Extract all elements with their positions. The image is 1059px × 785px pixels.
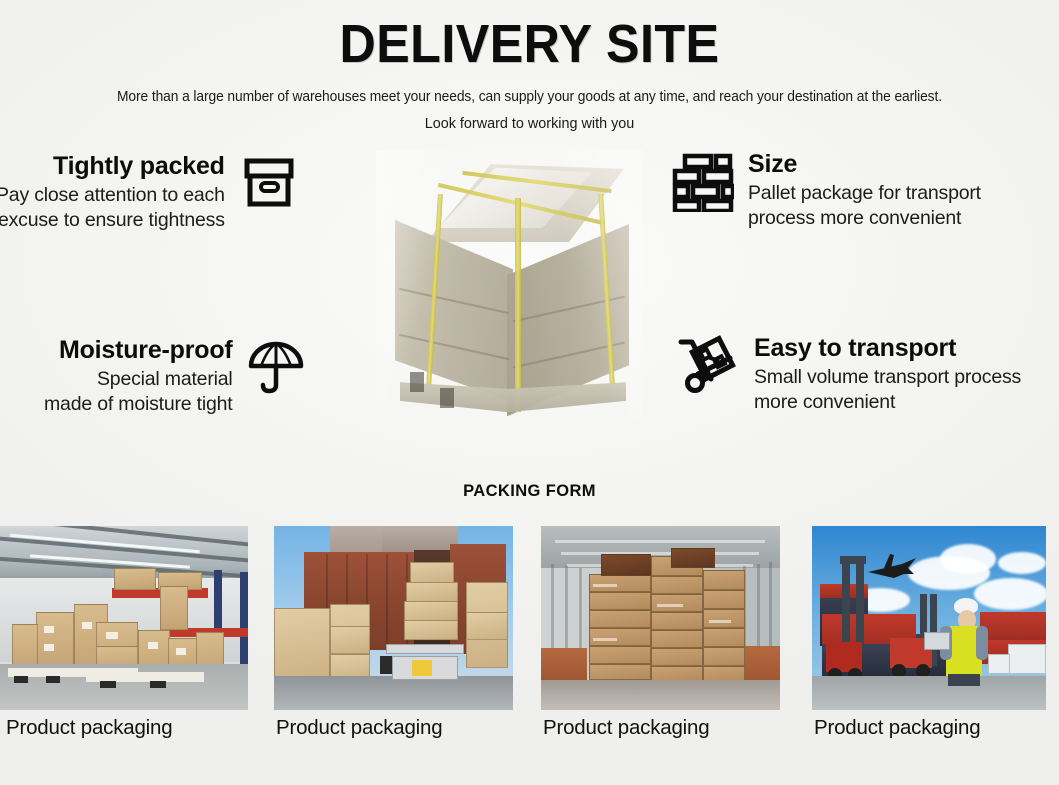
hand-truck-icon bbox=[678, 334, 740, 396]
gallery-section bbox=[0, 526, 1059, 716]
carton bbox=[703, 628, 745, 647]
wall-rib bbox=[769, 562, 772, 652]
reach-stacker-mast bbox=[842, 558, 850, 646]
header-subtitle-line1: More than a large number of warehouses m… bbox=[21, 89, 1038, 105]
wall-rib bbox=[579, 568, 582, 650]
box-label bbox=[593, 584, 617, 587]
carton bbox=[651, 630, 703, 648]
wall-rib bbox=[551, 564, 554, 650]
gallery-caption-3: Product packaging bbox=[543, 716, 709, 740]
feature-text: Easy to transport Small volume transport… bbox=[754, 334, 1021, 414]
header-subtitle-line2: Look forward to working with you bbox=[0, 116, 1059, 132]
wall-rib bbox=[565, 566, 568, 650]
container-floor bbox=[541, 680, 780, 710]
yard-ground bbox=[812, 676, 1046, 710]
gallery-caption-1: Product packaging bbox=[6, 716, 172, 740]
page-header: DELIVERY SITE More than a large number o… bbox=[0, 0, 1059, 132]
feature-desc-line1: Special material bbox=[44, 367, 233, 392]
box-label bbox=[148, 642, 158, 649]
feature-text: Tightly packed Pay close attention to ea… bbox=[0, 152, 225, 232]
wall-rust-band bbox=[541, 648, 587, 684]
carton bbox=[404, 601, 458, 621]
pallet-illustration bbox=[376, 150, 642, 422]
logistics-hub-photo bbox=[812, 526, 1046, 710]
carton bbox=[589, 610, 651, 628]
carton bbox=[703, 647, 745, 666]
carton bbox=[703, 609, 745, 628]
pallet-foot bbox=[46, 676, 60, 683]
feature-text: Size Pallet package for transport proces… bbox=[748, 150, 981, 230]
carton bbox=[589, 628, 651, 646]
container-loading-photo bbox=[274, 526, 513, 710]
gallery-caption-4: Product packaging bbox=[814, 716, 980, 740]
umbrella-icon bbox=[247, 336, 305, 396]
carton bbox=[589, 592, 651, 610]
carton bbox=[703, 570, 745, 590]
gallery-caption-2: Product packaging bbox=[276, 716, 442, 740]
carton bbox=[651, 594, 703, 612]
carton-stack bbox=[274, 608, 330, 680]
truck bbox=[1008, 644, 1046, 674]
box-label bbox=[82, 622, 92, 629]
carton bbox=[160, 586, 188, 630]
hero-pallet-image bbox=[376, 150, 642, 422]
box-label bbox=[657, 604, 683, 607]
box-label bbox=[106, 632, 118, 639]
carton bbox=[589, 646, 651, 664]
feature-title: Size bbox=[748, 150, 981, 178]
cloud bbox=[998, 552, 1046, 574]
reach-stacker-mast bbox=[856, 558, 864, 646]
carton bbox=[410, 562, 454, 584]
page-title: DELIVERY SITE bbox=[37, 16, 1022, 73]
warehouse-interior-photo bbox=[0, 526, 248, 710]
container-rib bbox=[386, 554, 388, 648]
carton bbox=[404, 620, 458, 640]
gallery-image-1[interactable] bbox=[0, 526, 248, 710]
feature-desc-line2: process more convenient bbox=[748, 206, 981, 231]
carton bbox=[589, 664, 651, 680]
brick-wall-icon bbox=[672, 150, 734, 212]
feature-easy-to-transport: Easy to transport Small volume transport… bbox=[678, 334, 1021, 414]
pallet-foot bbox=[410, 372, 424, 392]
feature-desc-line1: Pallet package for transport bbox=[748, 181, 981, 206]
gallery-image-3[interactable] bbox=[541, 526, 780, 710]
carton-dark bbox=[601, 554, 651, 576]
feature-size: Size Pallet package for transport proces… bbox=[672, 150, 981, 230]
airplane-icon bbox=[864, 552, 922, 582]
gallery-image-2[interactable] bbox=[274, 526, 513, 710]
feature-title: Tightly packed bbox=[0, 152, 225, 180]
rack-upright bbox=[240, 572, 248, 672]
feature-title: Moisture-proof bbox=[44, 336, 233, 364]
carton bbox=[651, 648, 703, 666]
carton bbox=[651, 576, 703, 594]
roof-rib bbox=[555, 540, 765, 543]
feature-title: Easy to transport bbox=[754, 334, 1021, 362]
tail-lift bbox=[386, 644, 464, 654]
mast-top bbox=[840, 556, 866, 564]
worker-legs bbox=[948, 674, 980, 686]
feature-desc-line1: Pay close attention to each bbox=[0, 183, 225, 208]
carton bbox=[406, 582, 458, 602]
carton bbox=[651, 612, 703, 630]
warning-sign bbox=[412, 660, 432, 676]
container-red bbox=[980, 612, 1046, 642]
pallet-foot bbox=[150, 681, 166, 688]
wheel bbox=[380, 656, 392, 674]
packing-form-heading: PACKING FORM bbox=[0, 482, 1059, 501]
carton bbox=[703, 590, 745, 609]
carton bbox=[114, 568, 156, 590]
box-label bbox=[593, 638, 617, 641]
box-label bbox=[709, 620, 731, 623]
roof-rib bbox=[561, 552, 759, 555]
feature-desc-line2: more convenient bbox=[754, 390, 1021, 415]
clipboard bbox=[924, 632, 950, 650]
wall-rib bbox=[757, 564, 760, 652]
carton bbox=[330, 626, 370, 654]
feature-desc-line2: made of moisture tight bbox=[44, 392, 233, 417]
box-label bbox=[176, 648, 186, 655]
feature-moisture-proof: Moisture-proof Special material made of … bbox=[44, 336, 305, 416]
feature-text: Moisture-proof Special material made of … bbox=[44, 336, 233, 416]
pallet-foot bbox=[14, 676, 28, 683]
feature-desc-line2: excuse to ensure tightness bbox=[0, 208, 225, 233]
pallet-foot bbox=[100, 681, 116, 688]
truck-cab bbox=[988, 654, 1010, 674]
box-label bbox=[44, 626, 54, 633]
gallery-image-4[interactable] bbox=[812, 526, 1046, 710]
cloud bbox=[974, 578, 1046, 610]
features-section: Tightly packed Pay close attention to ea… bbox=[0, 146, 1059, 456]
container-interior-photo bbox=[541, 526, 780, 710]
feature-tightly-packed: Tightly packed Pay close attention to ea… bbox=[0, 152, 299, 232]
pallet-foot bbox=[440, 388, 454, 408]
pallet-strap bbox=[515, 198, 521, 412]
worker-arm bbox=[976, 626, 988, 660]
carton bbox=[466, 612, 508, 640]
cloud bbox=[940, 544, 996, 574]
carton bbox=[589, 574, 651, 592]
ground bbox=[274, 676, 513, 710]
archive-box-icon bbox=[239, 152, 299, 212]
feature-desc-line1: Small volume transport process bbox=[754, 365, 1021, 390]
carton bbox=[36, 612, 74, 670]
box-label bbox=[44, 644, 54, 651]
carton-dark bbox=[671, 548, 715, 568]
